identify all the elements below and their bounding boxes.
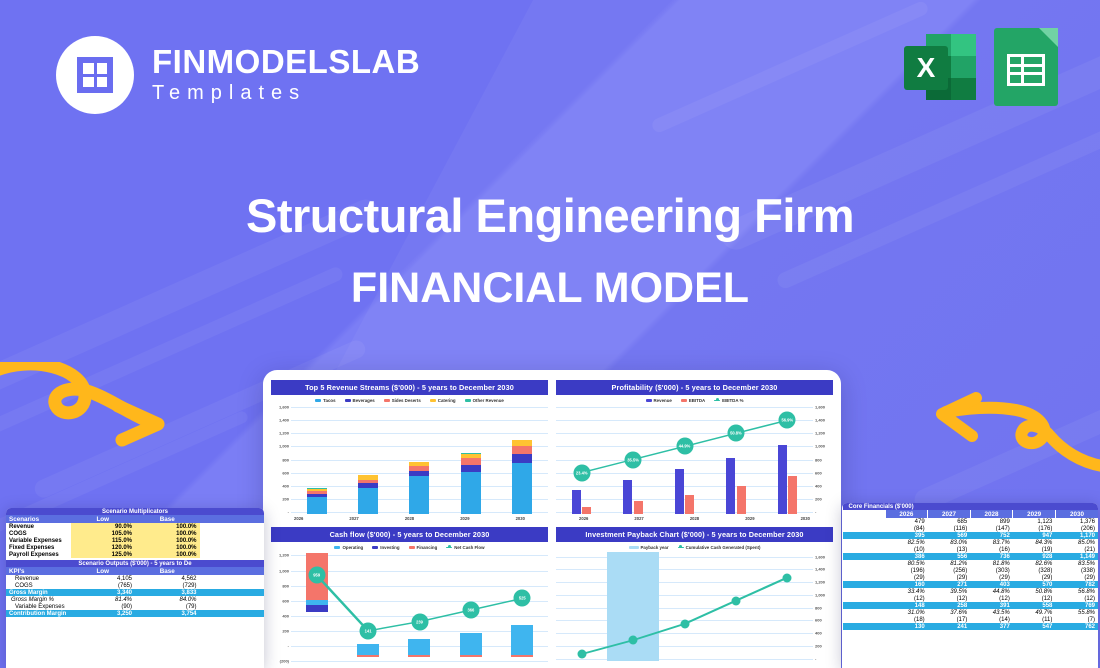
plot-area bbox=[556, 552, 813, 668]
table-cell: (256) bbox=[928, 567, 971, 574]
table-cell: 50.8% bbox=[1013, 588, 1056, 595]
table-row: 4796858991,1231,376 bbox=[843, 518, 1099, 525]
chart-legend: Operating Investing Financing Net Cash F… bbox=[271, 542, 548, 552]
table-cell: (7) bbox=[1055, 616, 1098, 623]
table-row: (196)(256)(303)(328)(338) bbox=[843, 567, 1099, 574]
table-cell: (338) bbox=[1055, 567, 1098, 574]
core-financials-panel[interactable]: Core Financials ($'000) 2026 2027 2028 2… bbox=[842, 503, 1098, 668]
section-title: Scenario Multiplicators bbox=[6, 508, 264, 515]
plot-area: 23.4% 35.5% 44.9% 50.8% 56.9% bbox=[556, 405, 813, 514]
table-cell: (12) bbox=[1013, 595, 1056, 602]
table-row: 80.5%81.2%81.8%82.6%83.5% bbox=[843, 560, 1099, 567]
chart-legend: Tacos Beverages Sides Deserts Catering O… bbox=[271, 395, 548, 405]
legend-item: EBITDA % bbox=[714, 398, 743, 403]
legend-item: Tacos bbox=[315, 398, 335, 403]
table-cell: 736 bbox=[970, 553, 1013, 560]
table-row: Variable Expenses (90) (79) bbox=[6, 603, 264, 610]
legend-item: Revenue bbox=[646, 398, 672, 403]
table-row: 3865567369281,149 bbox=[843, 553, 1099, 560]
table-row: COGS 105.0% 100.0% bbox=[6, 530, 264, 537]
table-cell: 556 bbox=[928, 553, 971, 560]
data-label: 23.4% bbox=[573, 464, 590, 481]
data-label: 239 bbox=[411, 613, 428, 630]
legend-item: EBITDA bbox=[681, 398, 705, 403]
table-cell: 899 bbox=[970, 518, 1013, 525]
table-header-row: KPI's Low Base bbox=[6, 567, 264, 575]
data-point bbox=[783, 573, 792, 582]
chart-title: Top 5 Revenue Streams ($'000) - 5 years … bbox=[271, 380, 548, 395]
table-cell: 395 bbox=[885, 532, 928, 539]
brand-tagline: Templates bbox=[152, 82, 420, 105]
bar-group bbox=[512, 405, 532, 514]
scenario-multiplicators-table: Scenario Multiplicators Scenarios Low Ba… bbox=[6, 508, 264, 558]
table-row: 3955697529471,170 bbox=[843, 532, 1099, 539]
table-cell: 81.2% bbox=[928, 560, 971, 567]
page-title: Structural Engineering Firm bbox=[0, 188, 1100, 243]
table-cell: (12) bbox=[1055, 595, 1098, 602]
bar-group bbox=[307, 405, 327, 514]
table-row: 82.5%83.0%83.7%84.3%85.0% bbox=[843, 539, 1099, 546]
x-axis: 2026 2027 2028 2029 2030 bbox=[271, 514, 548, 521]
chart-title: Investment Payback Chart ($'000) - 5 yea… bbox=[556, 527, 833, 542]
table-cell: 31.0% bbox=[885, 609, 928, 616]
table-cell: 80.5% bbox=[885, 560, 928, 567]
excel-icon: X bbox=[904, 28, 976, 106]
table-cell: 569 bbox=[928, 532, 971, 539]
table-header-row: 2026 2027 2028 2029 2030 bbox=[843, 510, 1099, 518]
table-cell: 39.5% bbox=[928, 588, 971, 595]
table-row: Gross Margin % 81.4% 84.0% bbox=[6, 596, 264, 603]
bar-group bbox=[409, 405, 429, 514]
data-label: 56.9% bbox=[779, 412, 796, 429]
table-cell: 148 bbox=[885, 602, 928, 609]
legend-item: Payback year bbox=[629, 545, 669, 550]
arrow-pointing-left-icon bbox=[930, 388, 1100, 483]
table-row: (18)(17)(14)(11)(7) bbox=[843, 616, 1099, 623]
table-cell: 762 bbox=[1055, 623, 1098, 630]
table-cell: 83.7% bbox=[970, 539, 1013, 546]
table-cell: (12) bbox=[928, 595, 971, 602]
table-cell: (206) bbox=[1055, 525, 1098, 532]
data-point bbox=[577, 650, 586, 659]
bar-group bbox=[358, 405, 378, 514]
legend-item: Financing bbox=[409, 545, 438, 550]
legend-item: Catering bbox=[430, 398, 456, 403]
legend-item: Sides Deserts bbox=[384, 398, 421, 403]
table-row: Revenue 90.0% 100.0% bbox=[6, 523, 264, 530]
legend-item: Other Revenue bbox=[465, 398, 504, 403]
table-row: COGS (765) (729) bbox=[6, 582, 264, 589]
table-cell: (328) bbox=[1013, 567, 1056, 574]
table-cell: (18) bbox=[885, 616, 928, 623]
table-cell: (196) bbox=[885, 567, 928, 574]
table-cell: 947 bbox=[1013, 532, 1056, 539]
table-cell: 769 bbox=[1055, 602, 1098, 609]
plot-area: 959 141 239 366 525 bbox=[291, 552, 548, 668]
table-cell: 83.5% bbox=[1055, 560, 1098, 567]
data-point bbox=[629, 636, 638, 645]
table-cell: 1,170 bbox=[1055, 532, 1098, 539]
data-point bbox=[731, 596, 740, 605]
table-cell: 44.8% bbox=[970, 588, 1013, 595]
table-row: 130241377547762 bbox=[843, 623, 1099, 630]
chart-cash-flow[interactable]: Cash flow ($'000) - 5 years to December … bbox=[271, 527, 548, 668]
table-cell: 547 bbox=[1013, 623, 1056, 630]
table-cell: 1,376 bbox=[1055, 518, 1098, 525]
data-label: 35.5% bbox=[625, 451, 642, 468]
table-row: Payroll Expenses 125.0% 100.0% bbox=[6, 551, 264, 558]
table-cell: 377 bbox=[970, 623, 1013, 630]
chart-investment-payback[interactable]: Investment Payback Chart ($'000) - 5 yea… bbox=[556, 527, 833, 668]
table-cell: 403 bbox=[970, 581, 1013, 588]
table-cell: 782 bbox=[1055, 581, 1098, 588]
section-title: Core Financials ($'000) bbox=[843, 503, 1099, 510]
table-cell: 56.8% bbox=[1055, 588, 1098, 595]
table-row: Fixed Expenses 120.0% 100.0% bbox=[6, 544, 264, 551]
table-cell: 43.5% bbox=[970, 609, 1013, 616]
table-cell: (12) bbox=[885, 595, 928, 602]
table-cell: (116) bbox=[928, 525, 971, 532]
table-row: (12)(12)(12)(12)(12) bbox=[843, 595, 1099, 602]
table-cell: (29) bbox=[970, 574, 1013, 581]
grid-logo-icon bbox=[56, 36, 134, 114]
table-cell: 1,149 bbox=[1055, 553, 1098, 560]
plot-area bbox=[291, 405, 548, 514]
data-label: 44.9% bbox=[676, 438, 693, 455]
table-cell: 1,123 bbox=[1013, 518, 1056, 525]
table-row: 160271403570782 bbox=[843, 581, 1099, 588]
table-cell: (13) bbox=[928, 546, 971, 553]
table-row: 31.0%37.6%43.5%49.7%55.8% bbox=[843, 609, 1099, 616]
chart-legend: Revenue EBITDA EBITDA % bbox=[556, 395, 833, 405]
dashboard-preview[interactable]: Top 5 Revenue Streams ($'000) - 5 years … bbox=[263, 370, 841, 668]
table-cell: 81.8% bbox=[970, 560, 1013, 567]
table-cell: 685 bbox=[928, 518, 971, 525]
legend-item: Investing bbox=[372, 545, 399, 550]
table-cell: 37.6% bbox=[928, 609, 971, 616]
table-cell: (17) bbox=[928, 616, 971, 623]
data-label: 525 bbox=[514, 590, 531, 607]
excel-x-glyph: X bbox=[904, 46, 948, 90]
chart-profitability[interactable]: Profitability ($'000) - 5 years to Decem… bbox=[556, 380, 833, 521]
table-cell: 391 bbox=[970, 602, 1013, 609]
table-cell: (16) bbox=[970, 546, 1013, 553]
table-cell: (29) bbox=[1013, 574, 1056, 581]
chart-legend: Payback year Cumulative Cash Generated (… bbox=[556, 542, 833, 552]
table-cell: 55.8% bbox=[1055, 609, 1098, 616]
table-cell: 84.3% bbox=[1013, 539, 1056, 546]
data-label: 141 bbox=[360, 622, 377, 639]
table-cell: 241 bbox=[928, 623, 971, 630]
legend-item: Operating bbox=[334, 545, 363, 550]
table-cell: 258 bbox=[928, 602, 971, 609]
table-cell: (19) bbox=[1013, 546, 1056, 553]
chart-title: Profitability ($'000) - 5 years to Decem… bbox=[556, 380, 833, 395]
core-financials-table: Core Financials ($'000) 2026 2027 2028 2… bbox=[842, 503, 1098, 630]
table-cell: 33.4% bbox=[885, 588, 928, 595]
brand-name: FINMODELSLAB bbox=[152, 45, 420, 80]
y-axis: 1,200 1,000 800 600 400 200 - (200) bbox=[271, 552, 291, 668]
table-cell: (10) bbox=[885, 546, 928, 553]
table-cell: 85.0% bbox=[1055, 539, 1098, 546]
table-cell: (176) bbox=[1013, 525, 1056, 532]
table-cell: 160 bbox=[885, 581, 928, 588]
chart-revenue-streams[interactable]: Top 5 Revenue Streams ($'000) - 5 years … bbox=[271, 380, 548, 521]
table-header-row: Scenarios Low Base bbox=[6, 515, 264, 523]
legend-item: Cumulative Cash Generated (Spent) bbox=[678, 545, 761, 550]
table-cell: 752 bbox=[970, 532, 1013, 539]
bar-group bbox=[461, 405, 481, 514]
table-cell: (14) bbox=[970, 616, 1013, 623]
data-label: 959 bbox=[308, 567, 325, 584]
table-row: Contribution Margin 3,250 3,754 bbox=[6, 610, 264, 617]
y-axis: 1,600 1,400 1,200 1,000 800 600 400 200 … bbox=[271, 405, 291, 514]
table-cell: (29) bbox=[928, 574, 971, 581]
table-row: (10)(13)(16)(19)(21) bbox=[843, 546, 1099, 553]
page-subtitle: FINANCIAL MODEL bbox=[0, 264, 1100, 313]
table-cell: 386 bbox=[885, 553, 928, 560]
table-cell: 928 bbox=[1013, 553, 1056, 560]
data-point bbox=[680, 619, 689, 628]
table-row: Revenue 4,105 4,562 bbox=[6, 575, 264, 582]
legend-item: Net Cash Flow bbox=[446, 545, 484, 550]
y-axis: 1,600 1,400 1,200 1,000 800 600 400 200 … bbox=[813, 552, 833, 668]
table-row: 33.4%39.5%44.8%50.8%56.8% bbox=[843, 588, 1099, 595]
table-cell: (29) bbox=[885, 574, 928, 581]
table-cell: 49.7% bbox=[1013, 609, 1056, 616]
table-cell: 82.5% bbox=[885, 539, 928, 546]
table-cell: 83.0% bbox=[928, 539, 971, 546]
table-row: 148258391558769 bbox=[843, 602, 1099, 609]
legend-item: Beverages bbox=[345, 398, 375, 403]
table-row: Gross Margin 3,340 3,833 bbox=[6, 589, 264, 596]
table-cell: 479 bbox=[885, 518, 928, 525]
file-format-icons: X bbox=[904, 28, 1058, 106]
data-label: 50.8% bbox=[727, 425, 744, 442]
data-label: 366 bbox=[462, 602, 479, 619]
table-cell: (303) bbox=[970, 567, 1013, 574]
table-row: (84)(116)(147)(176)(206) bbox=[843, 525, 1099, 532]
section-title: Scenario Outputs ($'000) - 5 years to De bbox=[6, 560, 264, 567]
table-cell: 130 bbox=[885, 623, 928, 630]
table-cell: (21) bbox=[1055, 546, 1098, 553]
scenario-spreadsheet-panel[interactable]: Scenario Multiplicators Scenarios Low Ba… bbox=[6, 508, 264, 668]
table-cell: (11) bbox=[1013, 616, 1056, 623]
table-cell: 271 bbox=[928, 581, 971, 588]
table-cell: (84) bbox=[885, 525, 928, 532]
table-cell: 82.6% bbox=[1013, 560, 1056, 567]
google-sheets-icon bbox=[994, 28, 1058, 106]
chart-title: Cash flow ($'000) - 5 years to December … bbox=[271, 527, 548, 542]
brand-logo: FINMODELSLAB Templates bbox=[56, 36, 420, 114]
table-cell: 570 bbox=[1013, 581, 1056, 588]
table-row: Variable Expenses 115.0% 100.0% bbox=[6, 537, 264, 544]
x-axis: 2026 2027 2028 2029 2030 bbox=[556, 514, 833, 521]
scenario-outputs-table: Scenario Outputs ($'000) - 5 years to De… bbox=[6, 560, 264, 617]
table-cell: (147) bbox=[970, 525, 1013, 532]
table-cell: (29) bbox=[1055, 574, 1098, 581]
table-cell: (12) bbox=[970, 595, 1013, 602]
y-axis: 1,600 1,400 1,200 1,000 800 600 400 200 … bbox=[813, 405, 833, 514]
table-cell: 558 bbox=[1013, 602, 1056, 609]
table-row: (29)(29)(29)(29)(29) bbox=[843, 574, 1099, 581]
arrow-pointing-right-icon bbox=[0, 362, 180, 457]
